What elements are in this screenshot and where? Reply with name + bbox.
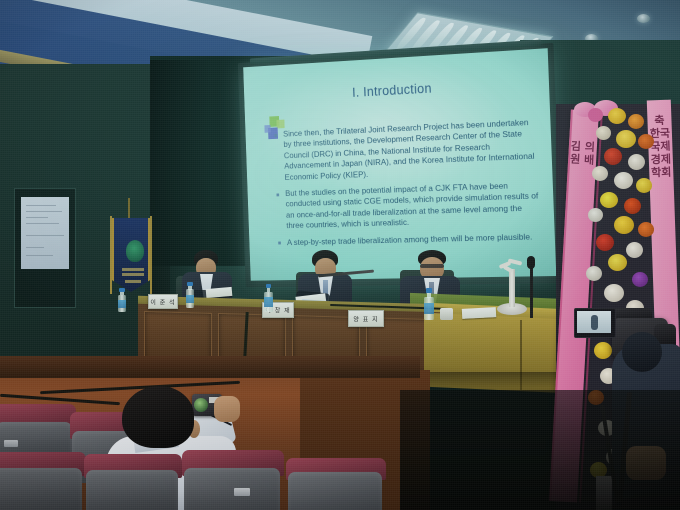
lcd-preview-figure <box>591 315 598 330</box>
paper-cup <box>440 308 453 320</box>
compact-camera-lens <box>194 398 208 412</box>
ceremonial-banner <box>108 214 152 306</box>
panel-documents <box>462 307 496 319</box>
audience-hand <box>214 396 240 422</box>
camera-lcd-screen <box>577 311 611 333</box>
water-bottle <box>118 288 126 312</box>
audience-seat[interactable] <box>84 454 182 510</box>
foreground-shadow <box>400 390 680 510</box>
lamp-column <box>509 269 515 307</box>
videographer-head <box>622 332 662 372</box>
name-placard-right: 양 표 지 <box>348 310 384 327</box>
lamp-arm <box>499 259 525 271</box>
audience-seat[interactable] <box>286 458 386 510</box>
water-bottle <box>424 288 434 320</box>
projection-screen-assembly: I. Introduction Since then, the Trilater… <box>243 48 556 282</box>
water-bottle <box>186 282 194 308</box>
screen-vignette <box>243 48 556 281</box>
projection-screen: I. Introduction Since then, the Trilater… <box>243 48 556 281</box>
glasses-icon <box>420 264 444 268</box>
downlight-icon <box>637 14 650 23</box>
stage-riser-edge <box>0 356 420 378</box>
audience-hair <box>122 386 194 448</box>
wall-notice-paper <box>21 197 69 269</box>
name-placard-left: 이 준 석 <box>148 294 178 309</box>
name-placard-text: 이 준 석 <box>149 297 177 306</box>
camera-lcd-panel <box>574 308 616 338</box>
banner-gold-fringe <box>110 216 152 294</box>
audience-seat[interactable] <box>0 452 86 510</box>
conference-photo-scene: I. Introduction Since then, the Trilater… <box>0 0 680 510</box>
wall-notice-frame <box>14 188 76 308</box>
name-placard-text: 양 표 지 <box>349 314 383 323</box>
microphone <box>527 252 535 318</box>
gooseneck-lamp <box>497 255 527 317</box>
water-bottle <box>264 284 273 312</box>
audience-seat[interactable] <box>182 450 284 510</box>
